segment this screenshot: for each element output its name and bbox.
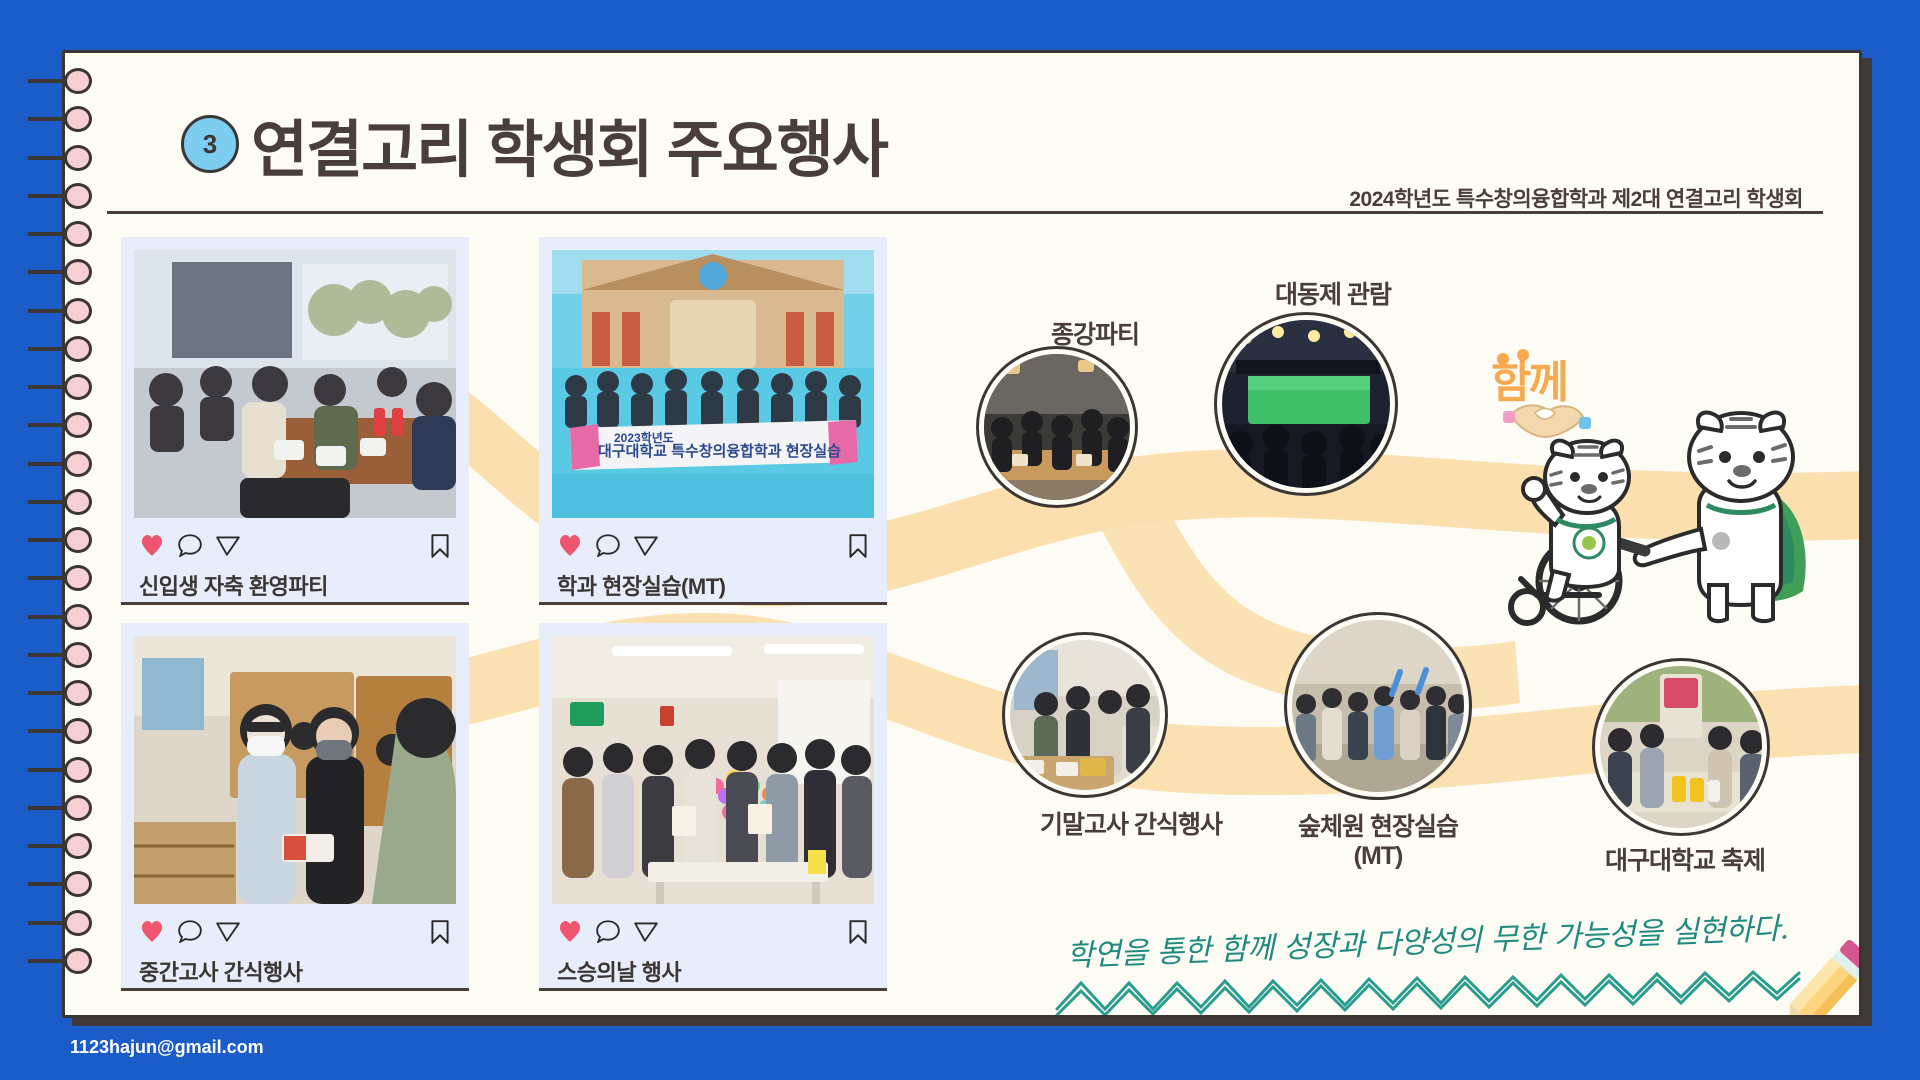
event-card-field-training[interactable]: 2023학년도 대구대학교 특수창의융합학과 현장실습 (539, 237, 887, 605)
binding-ring (28, 718, 94, 744)
bookmark-icon[interactable] (847, 919, 869, 950)
heart-icon[interactable] (139, 919, 165, 948)
card-photo (552, 636, 874, 904)
card-actions[interactable] (557, 533, 869, 563)
binding-ring-dot (64, 795, 92, 821)
binding-ring (28, 183, 94, 209)
binding-ring (28, 565, 94, 591)
binding-ring-dot (64, 948, 92, 974)
heart-icon[interactable] (557, 919, 583, 948)
binding-ring-dot (64, 412, 92, 438)
binding-ring-dot (64, 145, 92, 171)
binding-ring (28, 145, 94, 171)
binding-ring-dot (64, 336, 92, 362)
card-caption: 신입생 자축 환영파티 (139, 569, 328, 601)
circle-photo-forest-training[interactable] (1287, 615, 1469, 797)
circle-label-campus-festival: 대구대학교 축제 (1545, 841, 1825, 877)
binding-ring (28, 259, 94, 285)
binding-ring (28, 795, 94, 821)
comment-icon[interactable] (177, 919, 203, 948)
together-text: 함께 (1491, 358, 1566, 407)
binding-ring (28, 412, 94, 438)
card-photo (134, 636, 456, 904)
binding-ring (28, 298, 94, 324)
binding-ring (28, 757, 94, 783)
card-photo: 2023학년도 대구대학교 특수창의융합학과 현장실습 (552, 250, 874, 518)
comment-icon[interactable] (595, 533, 621, 562)
binding-ring (28, 489, 94, 515)
binding-ring-dot (64, 757, 92, 783)
binding-ring (28, 451, 94, 477)
binding-ring-dot (64, 221, 92, 247)
pencil-icon (1755, 931, 1862, 1018)
binding-ring (28, 910, 94, 936)
together-hands-graphic: 함께 (1487, 349, 1617, 464)
card-caption: 학과 현장실습(MT) (557, 569, 725, 601)
event-card-midterm-snacks[interactable]: 중간고사 간식행사 (121, 623, 469, 991)
share-icon[interactable] (215, 533, 241, 562)
share-icon[interactable] (215, 919, 241, 948)
bookmark-icon[interactable] (847, 533, 869, 564)
binding-ring-dot (64, 871, 92, 897)
share-icon[interactable] (633, 919, 659, 948)
circle-label-forest-training: 숲체원 현장실습(MT) (1253, 813, 1503, 871)
circle-label-festival-viewing: 대동제 관람 (1213, 275, 1453, 311)
circle-photo-campus-festival[interactable] (1595, 661, 1767, 833)
heart-icon[interactable] (557, 533, 583, 562)
circle-photo-final-snacks[interactable] (1005, 635, 1165, 795)
slogan-underline (1051, 965, 1811, 1018)
binding-ring-dot (64, 718, 92, 744)
paper-sheet: 3 연결고리 학생회 주요행사 2024학년도 특수창의융합학과 제2대 연결고… (62, 50, 1862, 1018)
binding-ring (28, 871, 94, 897)
event-card-teachers-day[interactable]: 스승의날 행사 (539, 623, 887, 991)
binding-ring-dot (64, 451, 92, 477)
binding-ring-dot (64, 489, 92, 515)
circle-label-closing-party: 종강파티 (995, 315, 1195, 351)
binding-ring-dot (64, 183, 92, 209)
card-caption: 스승의날 행사 (557, 955, 681, 987)
binding-ring-dot (64, 604, 92, 630)
binding-ring-dot (64, 910, 92, 936)
card-photo (134, 250, 456, 518)
binding-ring-dot (64, 298, 92, 324)
card-actions[interactable] (139, 919, 451, 949)
card-caption: 중간고사 간식행사 (139, 955, 303, 987)
binding-ring (28, 527, 94, 553)
binding-ring (28, 833, 94, 859)
circle-photo-closing-party[interactable] (979, 349, 1135, 505)
binding-ring-dot (64, 68, 92, 94)
binding-ring-dot (64, 565, 92, 591)
binding-ring (28, 68, 94, 94)
binding-ring (28, 642, 94, 668)
binding-ring-dot (64, 259, 92, 285)
binding-ring (28, 336, 94, 362)
binding-ring-dot (64, 527, 92, 553)
binding-ring (28, 604, 94, 630)
footer-email: 1123hajun@gmail.com (70, 1037, 264, 1058)
binding-ring (28, 221, 94, 247)
binding-ring-dot (64, 642, 92, 668)
binding-ring-dot (64, 680, 92, 706)
spiral-binding (0, 50, 140, 1018)
circle-photo-festival-viewing[interactable] (1217, 315, 1395, 493)
binding-ring (28, 374, 94, 400)
binding-ring (28, 680, 94, 706)
event-card-welcome-party[interactable]: 신입생 자축 환영파티 (121, 237, 469, 605)
heart-icon[interactable] (139, 533, 165, 562)
svg-text:대구대학교 특수창의융합학과 현장실습: 대구대학교 특수창의융합학과 현장실습 (598, 442, 841, 460)
circle-label-final-snacks: 기말고사 간식행사 (981, 805, 1281, 841)
share-icon[interactable] (633, 533, 659, 562)
comment-icon[interactable] (177, 533, 203, 562)
binding-ring-dot (64, 833, 92, 859)
binding-ring (28, 948, 94, 974)
binding-ring (28, 106, 94, 132)
comment-icon[interactable] (595, 919, 621, 948)
bookmark-icon[interactable] (429, 533, 451, 564)
binding-ring-dot (64, 374, 92, 400)
slide-canvas: 3 연결고리 학생회 주요행사 2024학년도 특수창의융합학과 제2대 연결고… (0, 0, 1920, 1080)
card-actions[interactable] (139, 533, 451, 563)
binding-ring-dot (64, 106, 92, 132)
bookmark-icon[interactable] (429, 919, 451, 950)
card-actions[interactable] (557, 919, 869, 949)
